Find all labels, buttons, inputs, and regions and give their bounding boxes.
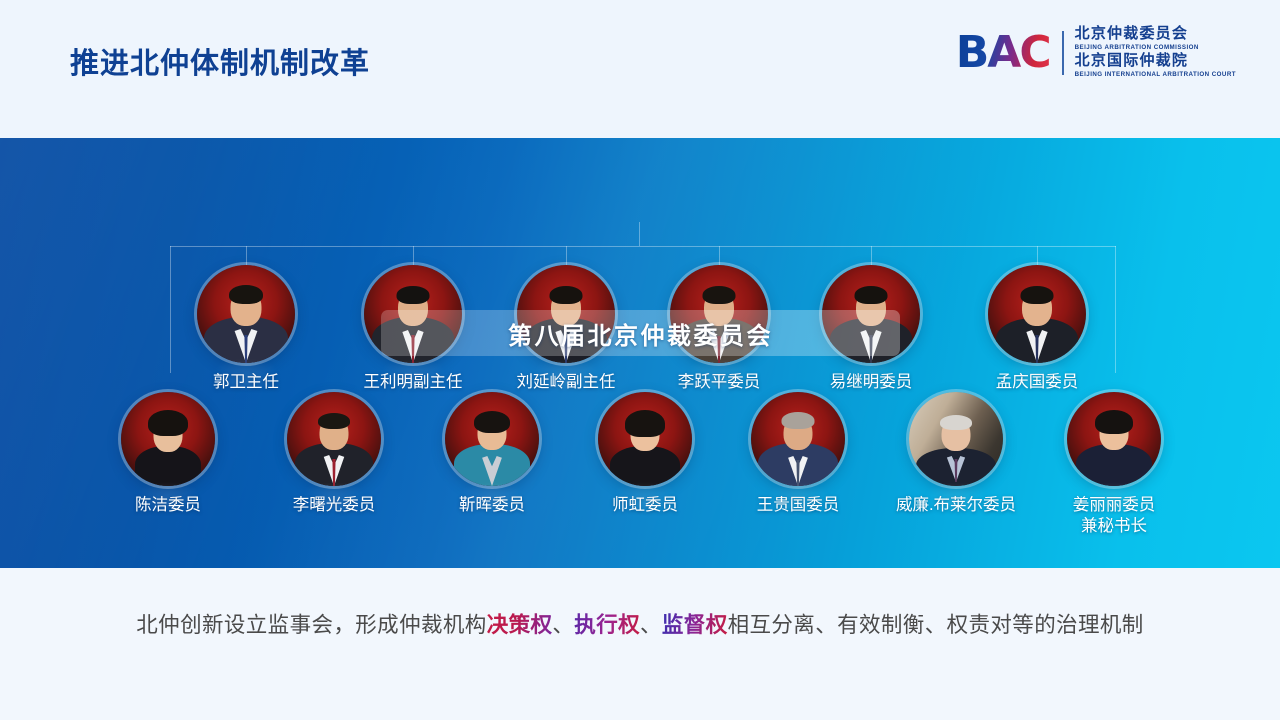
member-photo <box>197 265 295 363</box>
portrait-figure <box>445 392 539 486</box>
member-photo <box>909 392 1003 486</box>
footer-segment-2: 相互分离、有效制衡、权责对等的治理机制 <box>728 613 1144 637</box>
photo-reflection <box>914 485 998 509</box>
page-title: 推进北仲体制机制改革 <box>70 40 370 82</box>
member-photo <box>445 392 539 486</box>
logo-text-block: 北京仲裁委员会 BEIJING ARBITRATION COMMISSION 北… <box>1075 26 1236 80</box>
member-card[interactable]: 陈洁委员 <box>94 392 242 516</box>
connector-horizontal-main <box>170 246 1116 247</box>
photo-reflection <box>369 362 457 388</box>
photo-reflection <box>603 485 687 509</box>
portrait-figure <box>751 392 845 486</box>
footer-highlight-execution: 执行权 <box>574 613 640 637</box>
footer-statement: 北仲创新设立监事会，形成仲裁机构决策权、执行权、监督权相互分离、有效制衡、权责对… <box>136 608 1143 639</box>
member-photo-wrap <box>197 265 295 363</box>
footer-separator-1: 、 <box>552 613 574 637</box>
member-role: 兼秘书长 <box>1040 516 1188 537</box>
slide-root: 推进北仲体制机制改革 BAC 北京仲裁委员会 BEIJING ARBITRATI… <box>0 0 1280 720</box>
member-card[interactable]: 王贵国委员 <box>724 392 872 516</box>
slide-header: 推进北仲体制机制改革 BAC 北京仲裁委员会 BEIJING ARBITRATI… <box>0 0 1280 138</box>
logo-cn-line-2: 北京国际仲裁院 <box>1075 53 1236 70</box>
connector-drop-right-edge <box>1115 246 1116 373</box>
org-chart-panel: 第八届北京仲裁委员会 <box>0 138 1280 568</box>
member-photo-wrap <box>121 392 215 486</box>
photo-reflection <box>993 362 1081 388</box>
member-photo-wrap <box>287 392 381 486</box>
portrait-figure <box>909 392 1003 486</box>
photo-reflection <box>292 485 376 509</box>
member-photo <box>287 392 381 486</box>
member-card[interactable]: 师虹委员 <box>571 392 719 516</box>
photo-reflection <box>1072 485 1156 509</box>
member-photo-wrap <box>445 392 539 486</box>
member-card[interactable]: 威廉.布莱尔委员 <box>882 392 1030 516</box>
member-photo <box>598 392 692 486</box>
member-photo-wrap <box>751 392 845 486</box>
member-photo <box>121 392 215 486</box>
org-banner: 第八届北京仲裁委员会 <box>381 310 900 356</box>
member-card[interactable]: 郭卫主任 <box>173 265 319 393</box>
photo-reflection <box>450 485 534 509</box>
photo-reflection <box>522 362 610 388</box>
portrait-figure <box>121 392 215 486</box>
member-card[interactable]: 靳晖委员 <box>418 392 566 516</box>
portrait-figure <box>1067 392 1161 486</box>
footer-highlight-supervision: 监督权 <box>662 613 728 637</box>
footer-highlight-decision: 决策权 <box>487 613 553 637</box>
photo-reflection <box>675 362 763 388</box>
footer-segment-1: 北仲创新设立监事会，形成仲裁机构 <box>136 613 486 637</box>
portrait-figure <box>598 392 692 486</box>
member-photo-wrap <box>909 392 1003 486</box>
connector-vertical-root <box>639 222 640 246</box>
logo-en-line-1: BEIJING ARBITRATION COMMISSION <box>1075 43 1236 52</box>
org-banner-title: 第八届北京仲裁委员会 <box>508 316 773 351</box>
member-photo-wrap <box>1067 392 1161 486</box>
photo-reflection <box>827 362 915 388</box>
member-card[interactable]: 李曙光委员 <box>260 392 408 516</box>
portrait-figure <box>197 265 295 363</box>
bac-logo: BAC 北京仲裁委员会 BEIJING ARBITRATION COMMISSI… <box>956 28 1236 78</box>
portrait-figure <box>988 265 1086 363</box>
photo-reflection <box>756 485 840 509</box>
connector-drop-left-edge <box>170 246 171 373</box>
photo-reflection <box>202 362 290 388</box>
footer-separator-2: 、 <box>640 613 662 637</box>
portrait-figure <box>287 392 381 486</box>
logo-cn-line-1: 北京仲裁委员会 <box>1075 26 1236 43</box>
logo-en-line-2: BEIJING INTERNATIONAL ARBITRATION COURT <box>1075 70 1236 79</box>
member-photo <box>1067 392 1161 486</box>
member-photo <box>751 392 845 486</box>
slide-footer: 北仲创新设立监事会，形成仲裁机构决策权、执行权、监督权相互分离、有效制衡、权责对… <box>0 568 1280 720</box>
member-card[interactable]: 孟庆国委员 <box>964 265 1110 393</box>
member-photo <box>988 265 1086 363</box>
photo-reflection <box>126 485 210 509</box>
logo-divider <box>1062 31 1064 75</box>
member-card[interactable]: 姜丽丽委员 兼秘书长 <box>1040 392 1188 537</box>
member-photo-wrap <box>988 265 1086 363</box>
member-photo-wrap <box>598 392 692 486</box>
logo-mark-text: BAC <box>956 31 1050 75</box>
